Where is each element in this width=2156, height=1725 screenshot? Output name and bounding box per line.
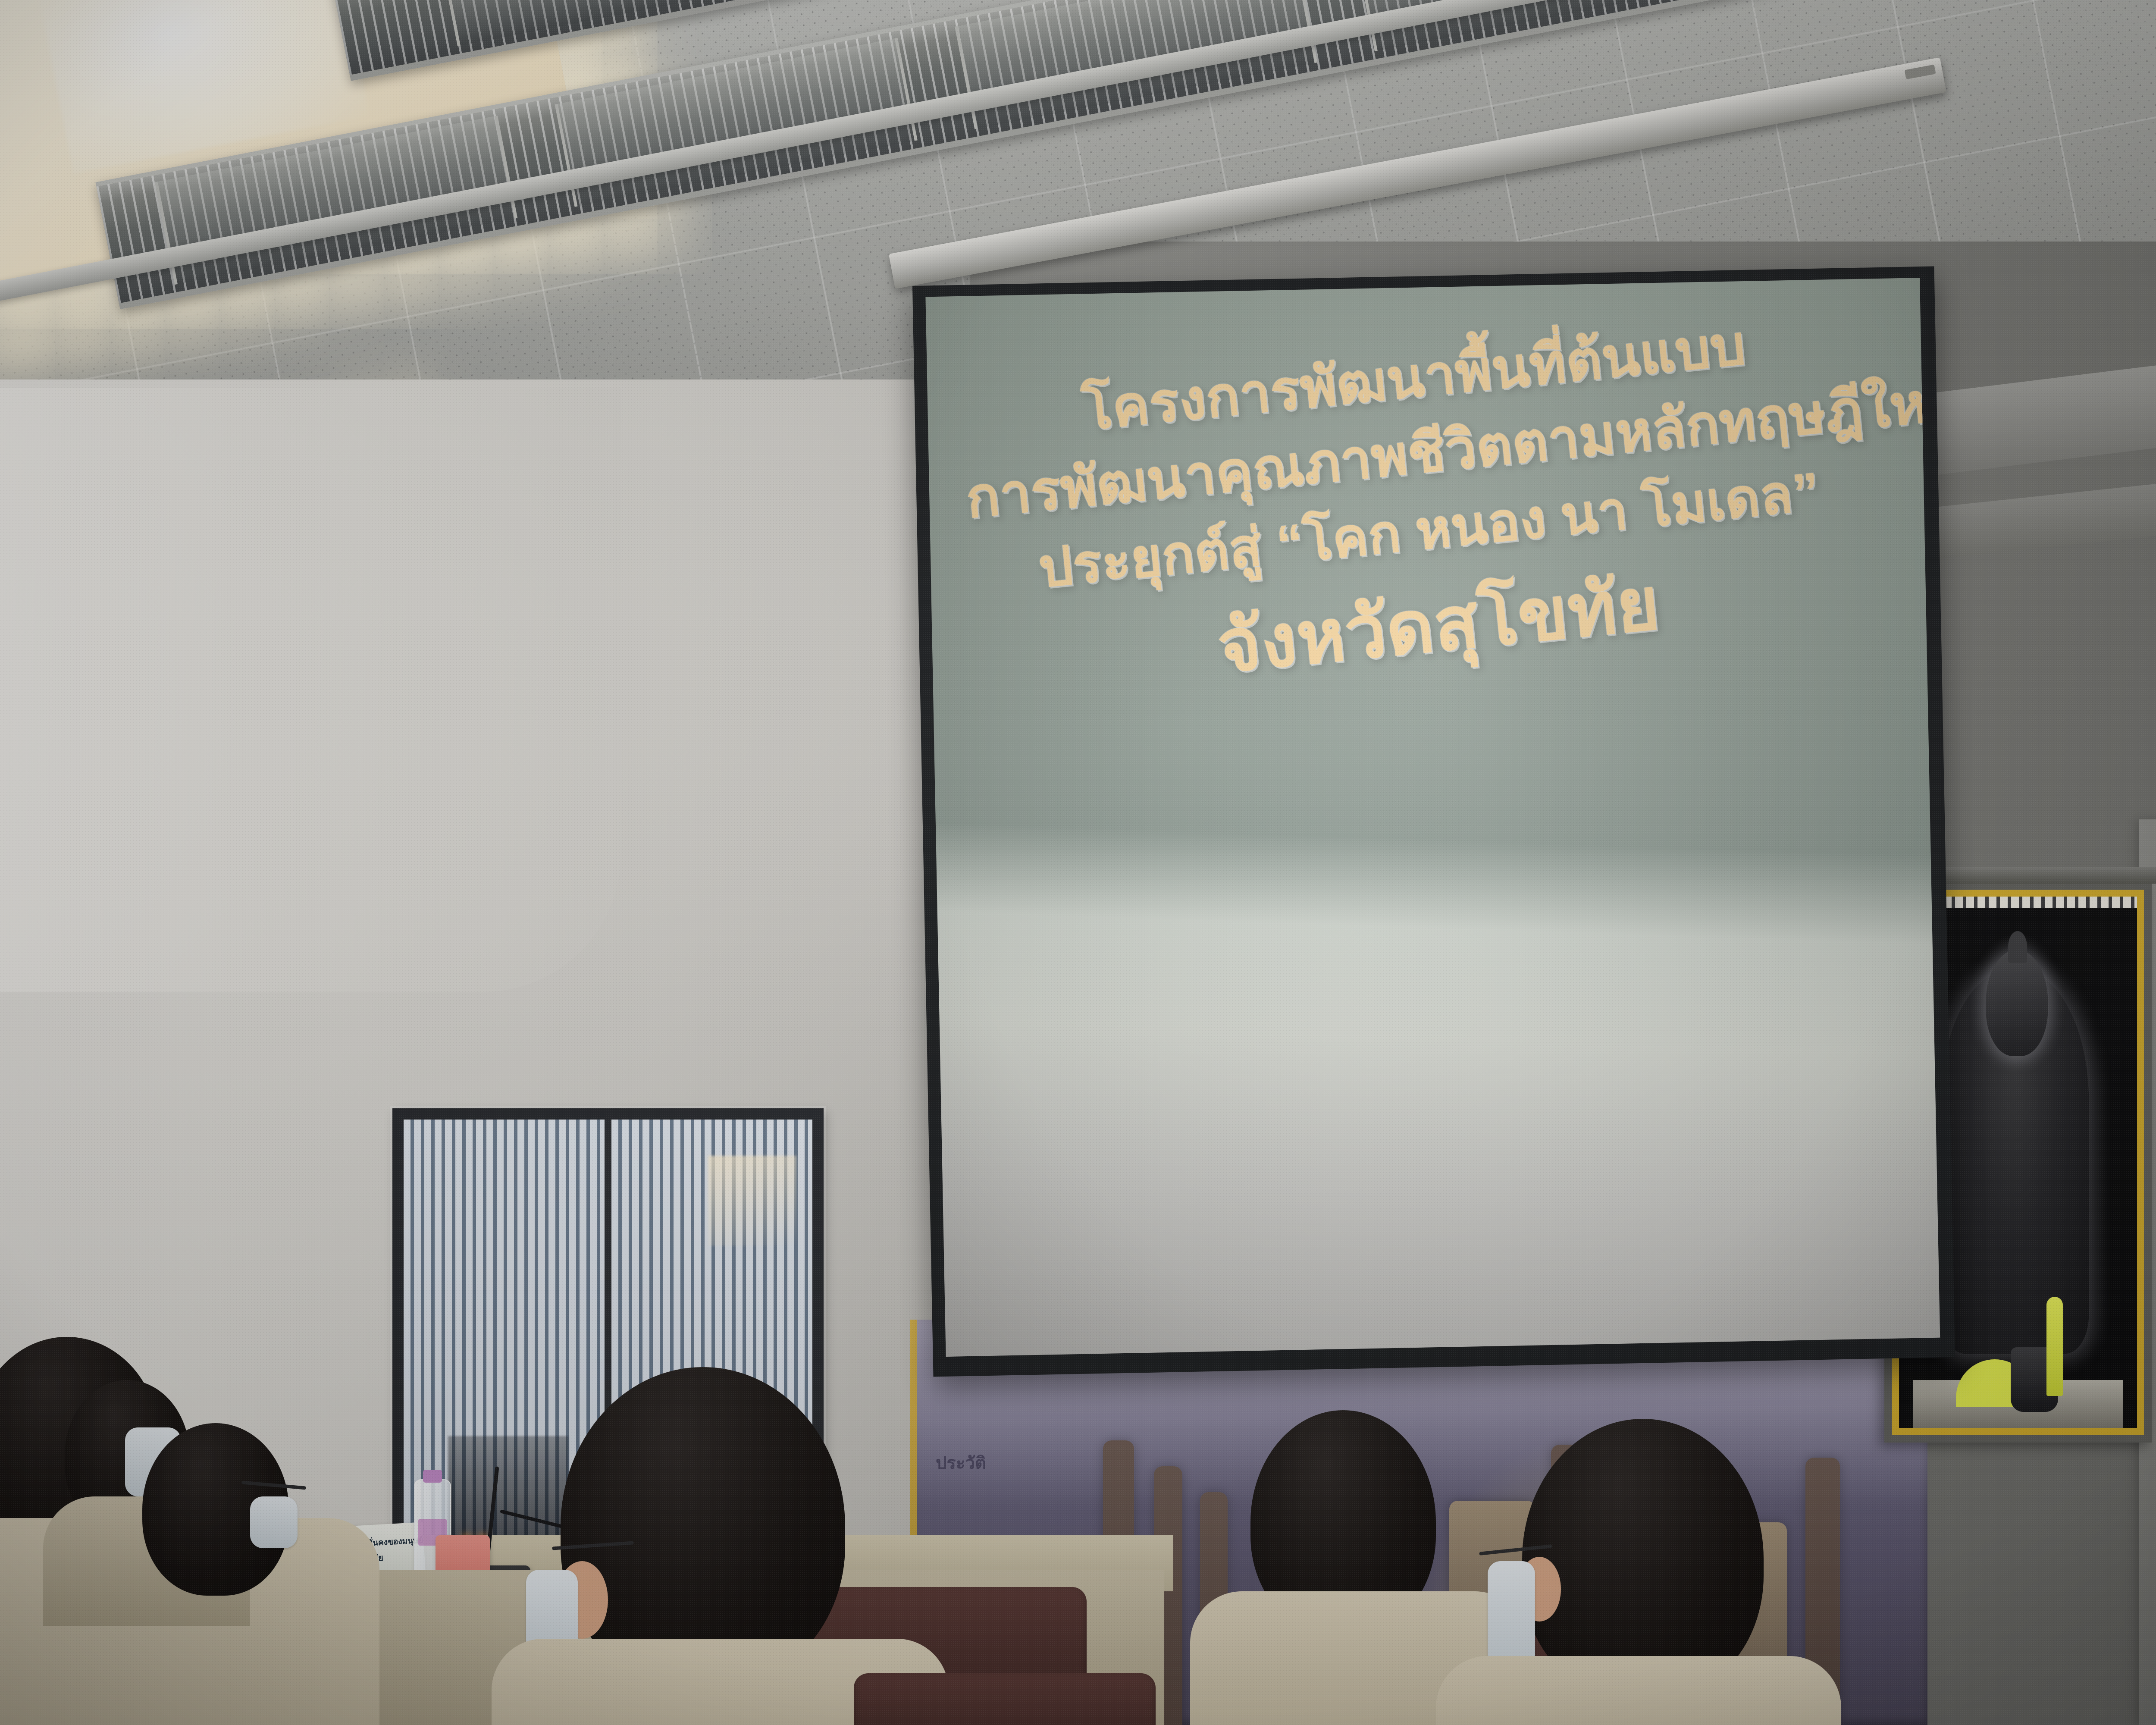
yellow-candle	[2046, 1297, 2063, 1396]
buddha-ushnisha	[2008, 931, 2027, 963]
conference-room-photo: ประวัติ โครงการพัฒนาพื้นที่ต้นแบบ การพัฒ…	[0, 0, 2156, 1725]
face-mask	[250, 1496, 298, 1548]
buddha-statue-head	[1986, 950, 2048, 1056]
screen-surface: โครงการพัฒนาพื้นที่ต้นแบบ การพัฒนาคุณภาพ…	[925, 278, 1940, 1357]
projection-screen: โครงการพัฒนาพื้นที่ต้นแบบ การพัฒนาคุณภาพ…	[912, 266, 1955, 1377]
window-reflection	[708, 1156, 796, 1246]
person-shoulders	[1436, 1656, 1841, 1725]
slide-content: โครงการพัฒนาพื้นที่ต้นแบบ การพัฒนาคุณภาพ…	[925, 292, 1938, 724]
chair-back	[854, 1673, 1156, 1725]
person-head	[561, 1367, 845, 1686]
banner-caption: ประวัติ	[936, 1449, 986, 1477]
roller-end-cap	[1905, 65, 1936, 80]
curved-wall-section	[0, 388, 621, 992]
screen-border: โครงการพัฒนาพื้นที่ต้นแบบ การพัฒนาคุณภาพ…	[912, 266, 1955, 1377]
